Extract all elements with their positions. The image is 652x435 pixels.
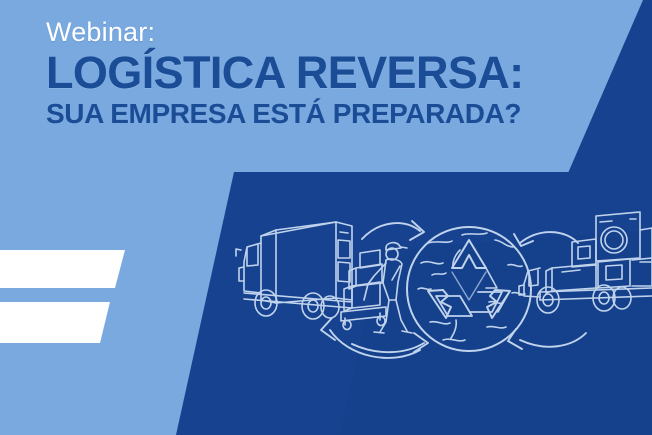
page-subtitle: SUA EMPRESA ESTÁ PREPARADA? bbox=[46, 99, 524, 128]
eyebrow-label: Webinar: bbox=[46, 18, 524, 46]
page-title: LOGÍSTICA REVERSA: bbox=[46, 50, 524, 95]
accent-bar-lower bbox=[0, 302, 110, 343]
webinar-banner: Webinar: LOGÍSTICA REVERSA: SUA EMPRESA … bbox=[0, 0, 652, 435]
banner-text-block: Webinar: LOGÍSTICA REVERSA: SUA EMPRESA … bbox=[46, 18, 524, 129]
accent-bar-upper bbox=[0, 250, 125, 288]
